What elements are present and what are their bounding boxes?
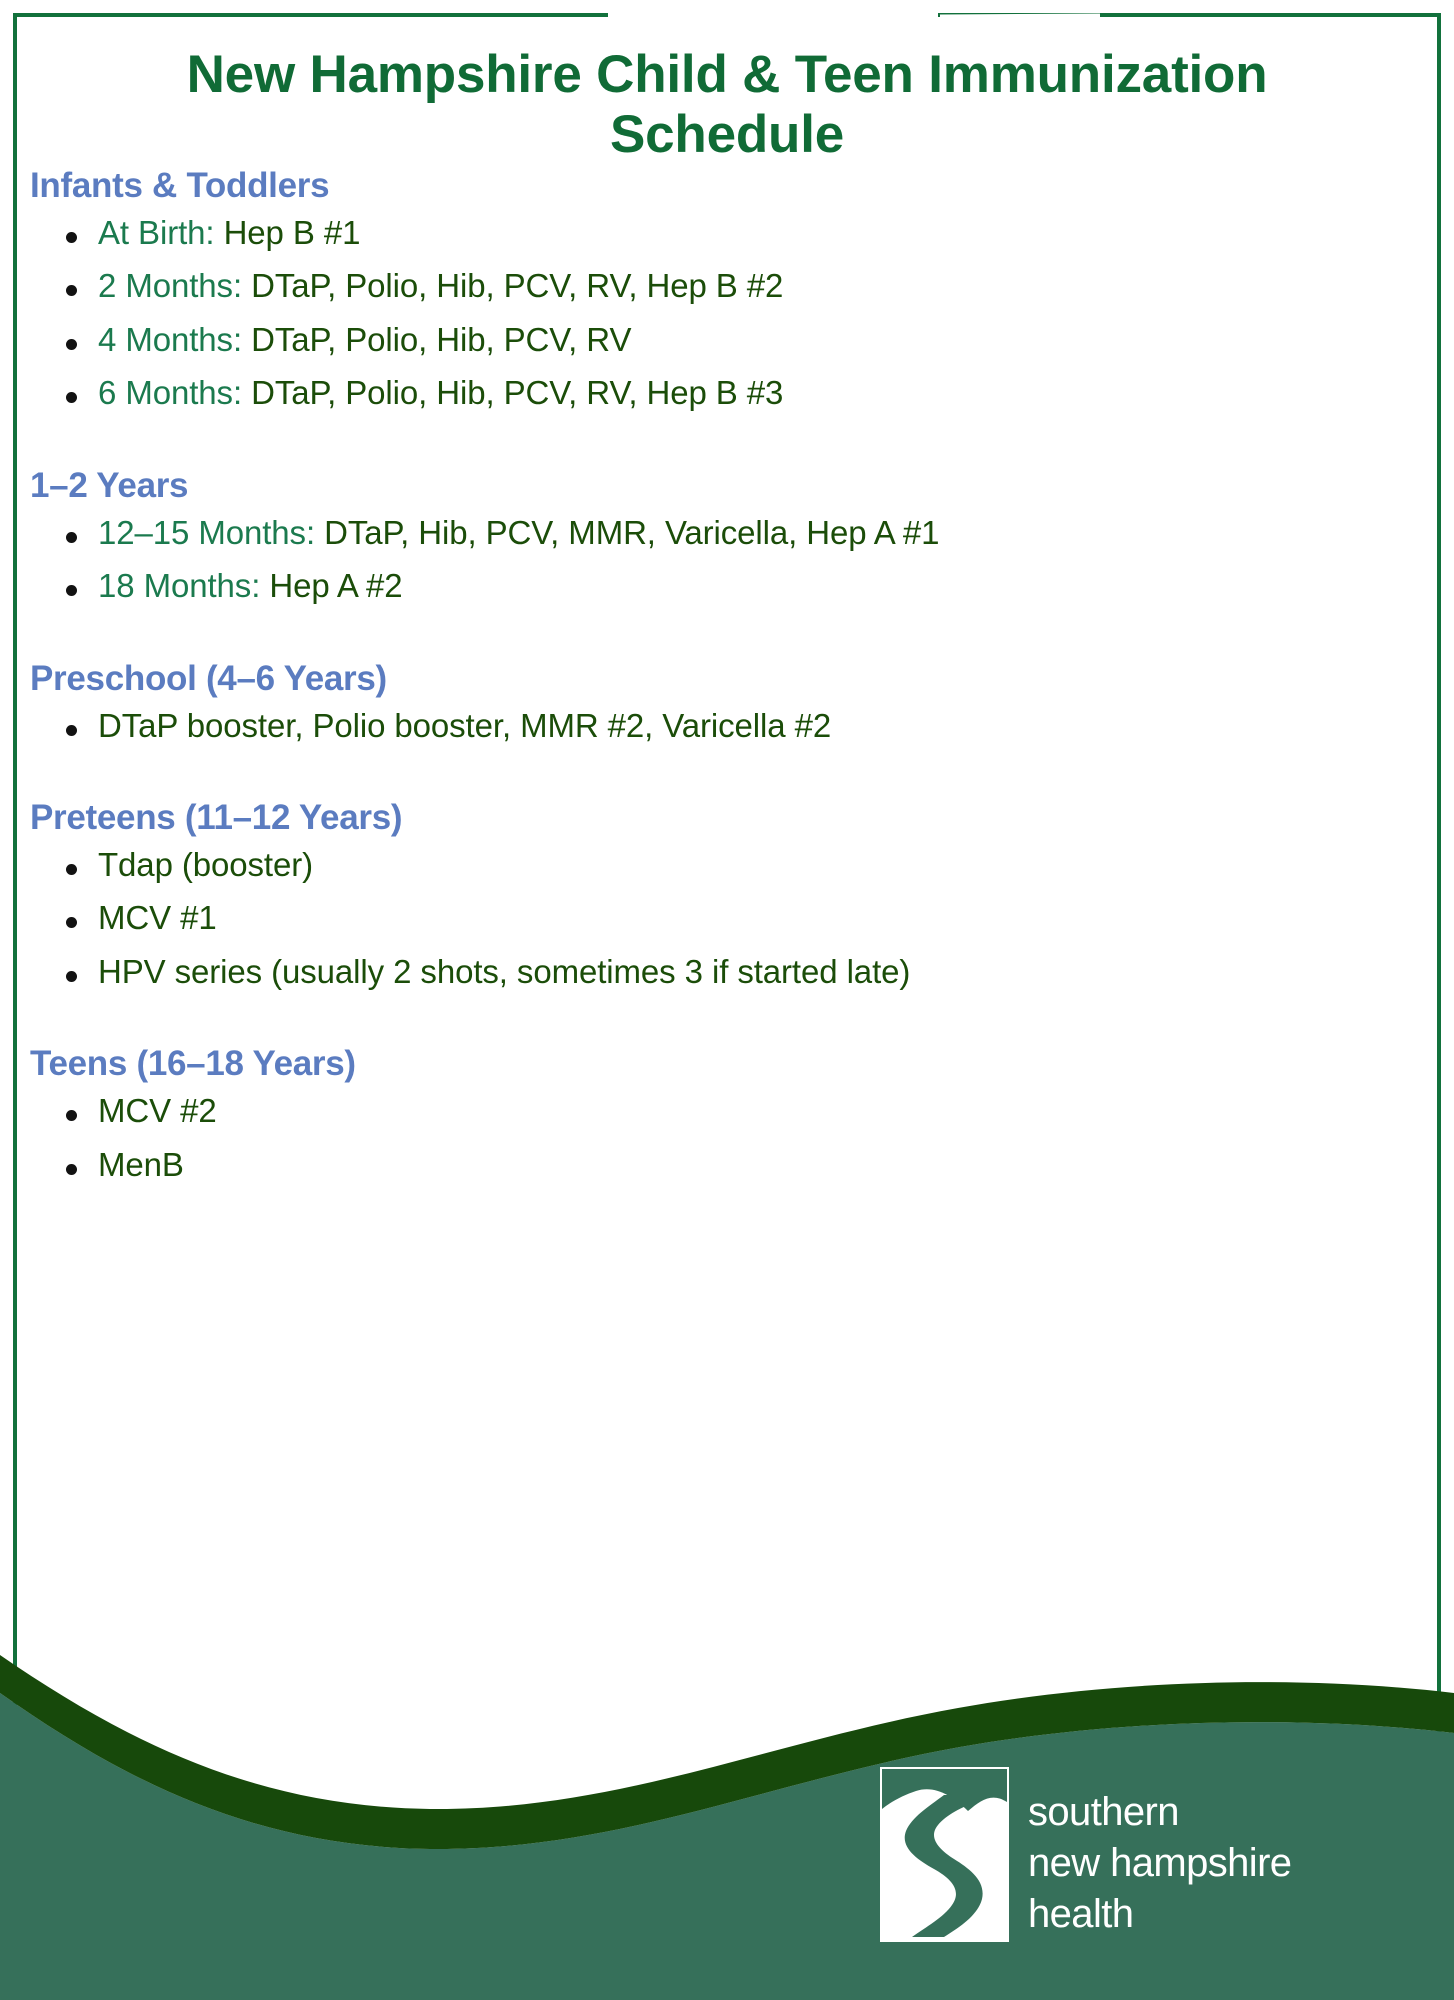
vaccine-list: Tdap (booster) <box>98 846 313 883</box>
vaccine-list: Hep B #1 <box>224 214 361 251</box>
list-item: MCV #2 <box>0 1084 1454 1137</box>
logo-line-health: health <box>1028 1889 1291 1940</box>
section-heading: 1–2 Years <box>0 466 1454 506</box>
sections-container: Infants & ToddlersAt Birth: Hep B #12 Mo… <box>0 166 1454 1191</box>
list-item: MCV #1 <box>0 891 1454 944</box>
schedule-section: Infants & ToddlersAt Birth: Hep B #12 Mo… <box>0 166 1454 420</box>
snh-health-logo: southern new hampshire health <box>880 1767 1291 1942</box>
section-heading: Teens (16–18 Years) <box>0 1044 1454 1084</box>
logo-wordmark: southern new hampshire health <box>1028 1767 1291 1939</box>
logo-line-new-hampshire: new hampshire <box>1028 1838 1291 1889</box>
list-item: At Birth: Hep B #1 <box>0 206 1454 259</box>
section-bullet-list: DTaP booster, Polio booster, MMR #2, Var… <box>0 699 1454 752</box>
vaccine-list: MenB <box>98 1146 184 1183</box>
schedule-section: 1–2 Years12–15 Months: DTaP, Hib, PCV, M… <box>0 466 1454 613</box>
list-item: 18 Months: Hep A #2 <box>0 559 1454 612</box>
logo-line-southern: southern <box>1028 1787 1291 1838</box>
vaccine-list: MCV #1 <box>98 899 217 936</box>
age-label: 18 Months: <box>98 567 260 604</box>
section-spacer <box>0 752 1454 798</box>
footer-wave-band: southern new hampshire health <box>0 1635 1454 2000</box>
age-label: At Birth: <box>98 214 214 251</box>
vaccine-list: DTaP, Polio, Hib, PCV, RV <box>251 321 631 358</box>
list-item: HPV series (usually 2 shots, sometimes 3… <box>0 945 1454 998</box>
immunization-schedule-poster: New Hampshire Child & Teen Immunization … <box>0 0 1454 2000</box>
section-spacer <box>0 613 1454 659</box>
vaccine-list: DTaP, Polio, Hib, PCV, RV, Hep B #2 <box>251 267 783 304</box>
section-bullet-list: At Birth: Hep B #12 Months: DTaP, Polio,… <box>0 206 1454 420</box>
section-bullet-list: Tdap (booster)MCV #1HPV series (usually … <box>0 838 1454 998</box>
vaccine-list: DTaP, Hib, PCV, MMR, Varicella, Hep A #1 <box>324 514 939 551</box>
section-heading: Preteens (11–12 Years) <box>0 798 1454 838</box>
schedule-section: Preschool (4–6 Years)DTaP booster, Polio… <box>0 659 1454 752</box>
list-item: 12–15 Months: DTaP, Hib, PCV, MMR, Varic… <box>0 506 1454 559</box>
vaccine-list: Hep A #2 <box>269 567 402 604</box>
section-bullet-list: 12–15 Months: DTaP, Hib, PCV, MMR, Varic… <box>0 506 1454 613</box>
age-label: 2 Months: <box>98 267 242 304</box>
section-bullet-list: MCV #2MenB <box>0 1084 1454 1191</box>
vaccine-list: DTaP, Polio, Hib, PCV, RV, Hep B #3 <box>251 374 783 411</box>
age-label: 6 Months: <box>98 374 242 411</box>
list-item: MenB <box>0 1138 1454 1191</box>
vaccine-list: DTaP booster, Polio booster, MMR #2, Var… <box>98 707 831 744</box>
section-heading: Infants & Toddlers <box>0 166 1454 206</box>
vaccine-list: MCV #2 <box>98 1092 217 1129</box>
list-item: DTaP booster, Polio booster, MMR #2, Var… <box>0 699 1454 752</box>
list-item: 2 Months: DTaP, Polio, Hib, PCV, RV, Hep… <box>0 259 1454 312</box>
age-label: 12–15 Months: <box>98 514 315 551</box>
list-item: 4 Months: DTaP, Polio, Hib, PCV, RV <box>0 313 1454 366</box>
schedule-section: Teens (16–18 Years)MCV #2MenB <box>0 1044 1454 1191</box>
schedule-section: Preteens (11–12 Years)Tdap (booster)MCV … <box>0 798 1454 998</box>
vaccine-list: HPV series (usually 2 shots, sometimes 3… <box>98 953 910 990</box>
age-label: 4 Months: <box>98 321 242 358</box>
list-item: 6 Months: DTaP, Polio, Hib, PCV, RV, Hep… <box>0 366 1454 419</box>
section-spacer <box>0 420 1454 466</box>
list-item: Tdap (booster) <box>0 838 1454 891</box>
page-title: New Hampshire Child & Teen Immunization … <box>0 45 1454 166</box>
section-spacer <box>0 998 1454 1044</box>
poster-content: New Hampshire Child & Teen Immunization … <box>0 0 1454 1191</box>
logo-mark-svg <box>882 1769 1009 1942</box>
river-mountain-mark-icon <box>880 1767 1009 1942</box>
section-heading: Preschool (4–6 Years) <box>0 659 1454 699</box>
